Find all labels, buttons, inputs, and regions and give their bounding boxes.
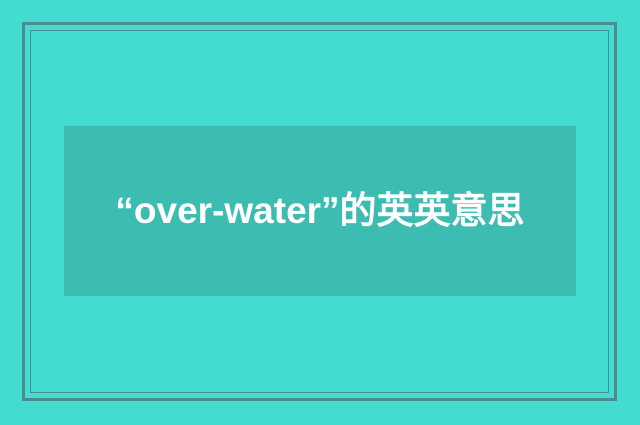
title-banner: “over-water”的英英意思: [64, 126, 576, 296]
page-title: “over-water”的英英意思: [64, 183, 576, 239]
poster-canvas: “over-water”的英英意思: [0, 0, 640, 425]
